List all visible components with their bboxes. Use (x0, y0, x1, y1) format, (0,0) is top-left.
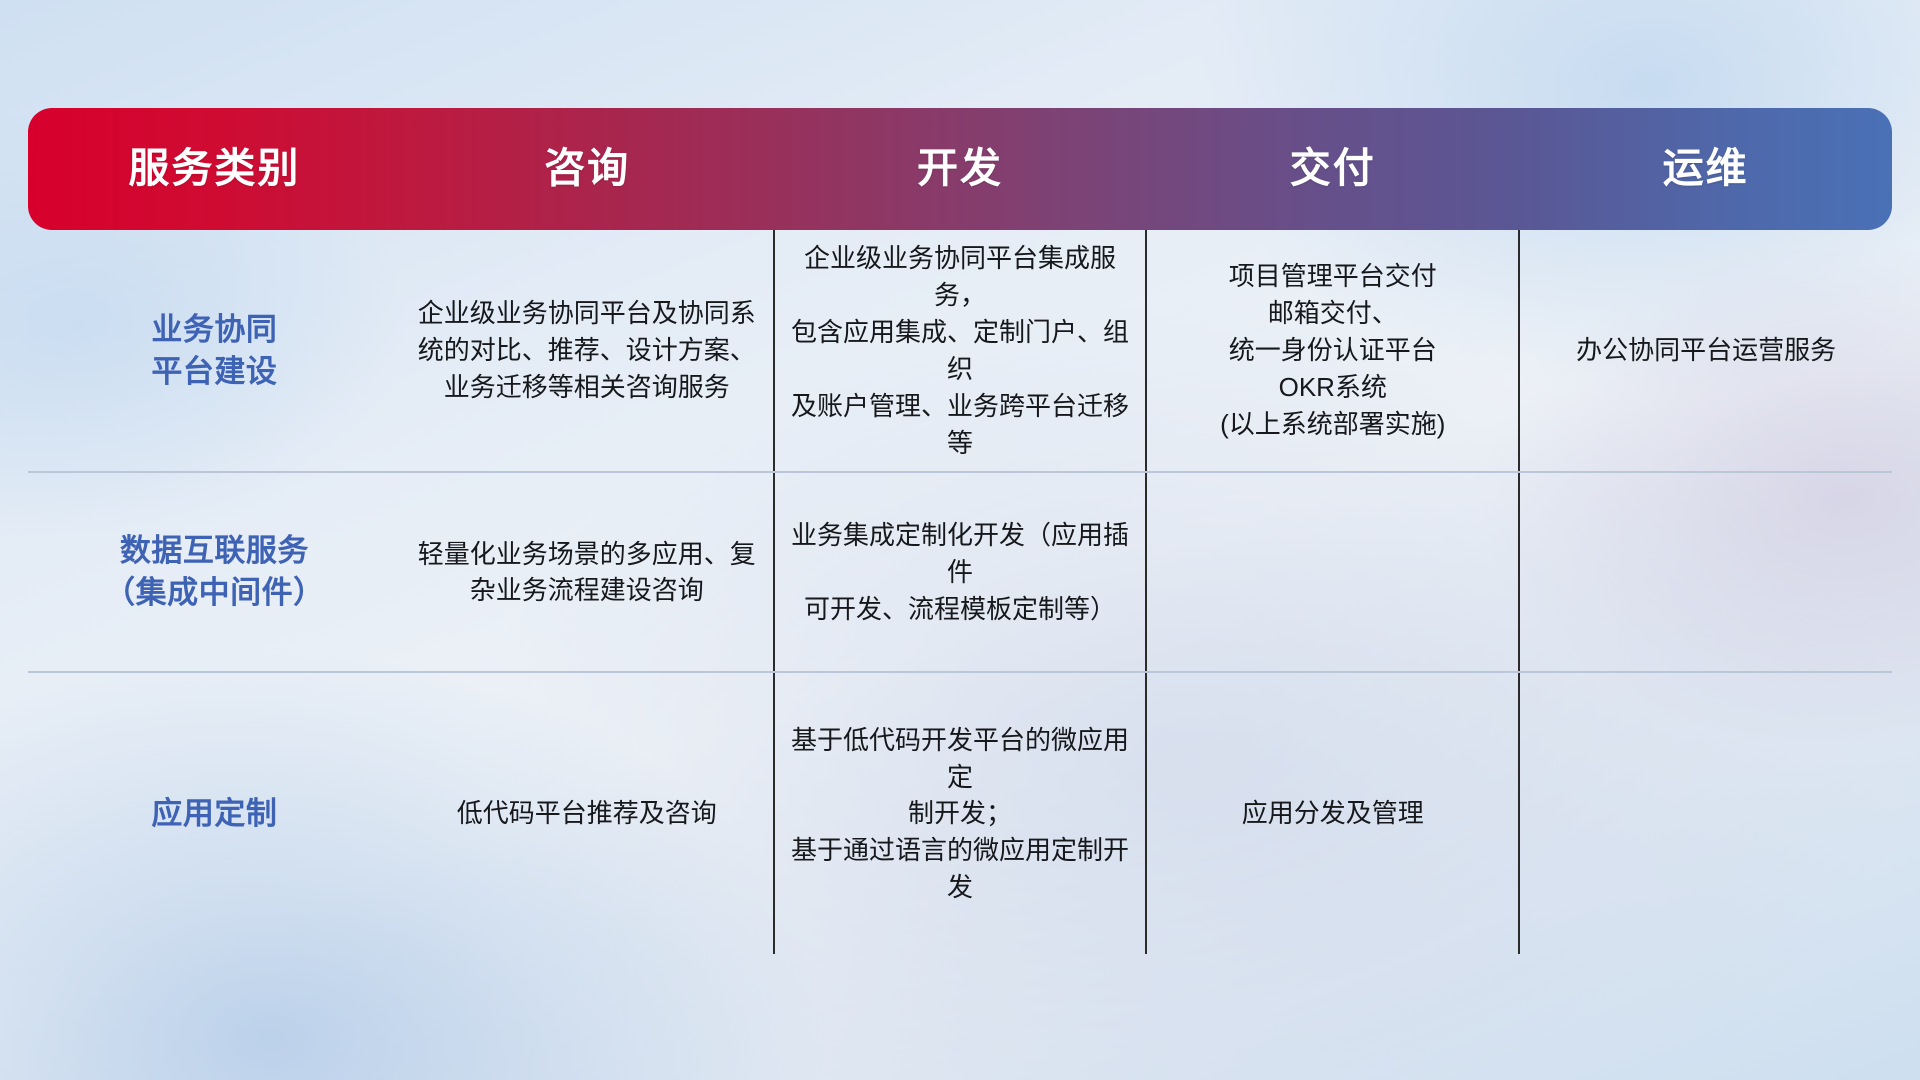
cell-delivery (1146, 472, 1519, 672)
cell-development-text: 企业级业务协同平台集成服务， 包含应用集成、定制门户、组织 及账户管理、业务跨平… (791, 240, 1130, 461)
column-header-category: 服务类别 (28, 108, 401, 230)
table-body: 业务协同 平台建设 企业级业务协同平台及协同系 统的对比、推荐、设计方案、 业务… (28, 230, 1892, 954)
cell-development-text: 业务集成定制化开发（应用插件 可开发、流程模板定制等） (791, 517, 1130, 628)
cell-operations (1519, 672, 1892, 954)
cell-delivery-text: 应用分发及管理 (1163, 795, 1502, 832)
cell-operations: 办公协同平台运营服务 (1519, 230, 1892, 472)
column-header-consulting-label: 咨询 (401, 146, 774, 191)
column-header-operations: 运维 (1519, 108, 1892, 230)
cell-development: 业务集成定制化开发（应用插件 可开发、流程模板定制等） (774, 472, 1147, 672)
row-category-label: 业务协同 平台建设 (44, 309, 385, 393)
cell-consulting-text: 企业级业务协同平台及协同系 统的对比、推荐、设计方案、 业务迁移等相关咨询服务 (417, 295, 757, 406)
column-header-delivery: 交付 (1146, 108, 1519, 230)
column-header-development-label: 开发 (774, 146, 1147, 191)
row-category-label: 数据互联服务 （集成中间件） (44, 530, 385, 614)
cell-consulting: 企业级业务协同平台及协同系 统的对比、推荐、设计方案、 业务迁移等相关咨询服务 (401, 230, 774, 472)
cell-delivery: 应用分发及管理 (1146, 672, 1519, 954)
column-header-delivery-label: 交付 (1146, 146, 1519, 191)
cell-development-text: 基于低代码开发平台的微应用定 制开发； 基于通过语言的微应用定制开发 (791, 722, 1130, 907)
cell-operations (1519, 472, 1892, 672)
cell-delivery: 项目管理平台交付 邮箱交付、 统一身份认证平台 OKR系统 (以上系统部署实施) (1146, 230, 1519, 472)
row-category-cell: 业务协同 平台建设 (28, 230, 401, 472)
cell-delivery-text: 项目管理平台交付 邮箱交付、 统一身份认证平台 OKR系统 (以上系统部署实施) (1163, 258, 1502, 443)
row-category-cell: 应用定制 (28, 672, 401, 954)
row-category-cell: 数据互联服务 （集成中间件） (28, 472, 401, 672)
column-header-category-label: 服务类别 (28, 146, 401, 191)
service-matrix-table: 服务类别 咨询 开发 交付 运维 业务协同 平台建设 (28, 108, 1892, 954)
table-row: 数据互联服务 （集成中间件） 轻量化业务场景的多应用、复 杂业务流程建设咨询 业… (28, 472, 1892, 672)
cell-consulting: 低代码平台推荐及咨询 (401, 672, 774, 954)
table-row: 业务协同 平台建设 企业级业务协同平台及协同系 统的对比、推荐、设计方案、 业务… (28, 230, 1892, 472)
cell-development: 企业级业务协同平台集成服务， 包含应用集成、定制门户、组织 及账户管理、业务跨平… (774, 230, 1147, 472)
table-row: 应用定制 低代码平台推荐及咨询 基于低代码开发平台的微应用定 制开发； 基于通过… (28, 672, 1892, 954)
cell-development: 基于低代码开发平台的微应用定 制开发； 基于通过语言的微应用定制开发 (774, 672, 1147, 954)
table-header: 服务类别 咨询 开发 交付 运维 (28, 108, 1892, 230)
row-category-label: 应用定制 (44, 793, 385, 835)
table-header-row: 服务类别 咨询 开发 交付 运维 (28, 108, 1892, 230)
cell-consulting-text: 轻量化业务场景的多应用、复 杂业务流程建设咨询 (417, 536, 757, 610)
cell-consulting: 轻量化业务场景的多应用、复 杂业务流程建设咨询 (401, 472, 774, 672)
column-header-operations-label: 运维 (1519, 146, 1892, 191)
service-matrix-table-container: 服务类别 咨询 开发 交付 运维 业务协同 平台建设 (28, 108, 1892, 953)
cell-operations-text: 办公协同平台运营服务 (1536, 332, 1876, 369)
cell-consulting-text: 低代码平台推荐及咨询 (417, 795, 757, 832)
column-header-development: 开发 (774, 108, 1147, 230)
column-header-consulting: 咨询 (401, 108, 774, 230)
